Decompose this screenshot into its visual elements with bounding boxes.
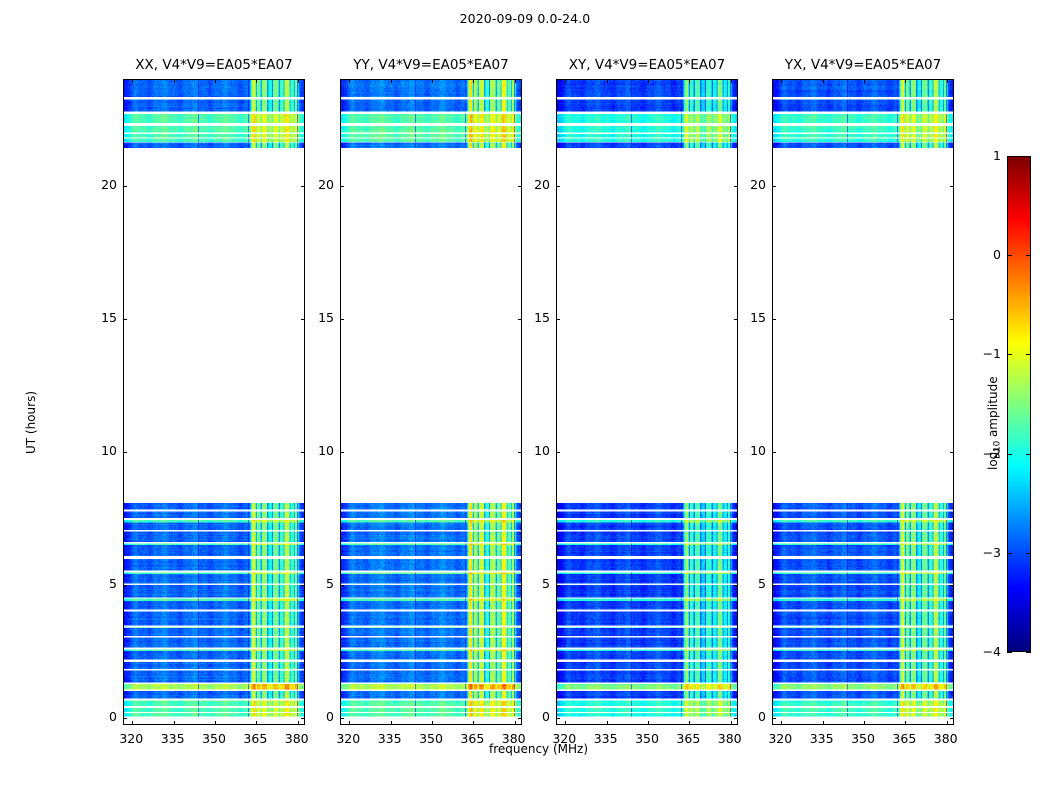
x-tick: [515, 79, 516, 83]
x-tick: [905, 79, 906, 83]
y-tick-label: 5: [83, 577, 117, 591]
y-tick-label: 10: [516, 444, 550, 458]
x-tick: [174, 79, 175, 83]
spectrogram-image-yx: [773, 80, 953, 724]
colorbar-tick: [1007, 255, 1012, 256]
colorbar-tick: [1026, 454, 1031, 455]
colorbar-tick: [1007, 156, 1012, 157]
x-tick: [174, 721, 175, 725]
y-tick-label: 5: [516, 577, 550, 591]
y-tick: [556, 452, 560, 453]
y-tick: [340, 718, 344, 719]
y-tick: [556, 585, 560, 586]
x-tick: [781, 79, 782, 83]
x-tick: [256, 79, 257, 83]
colorbar-tick-label: −4: [961, 645, 1001, 659]
y-tick-label: 0: [732, 710, 766, 724]
x-tick: [565, 721, 566, 725]
x-tick: [298, 79, 299, 83]
y-tick: [123, 718, 127, 719]
y-tick: [772, 585, 776, 586]
y-tick-label: 5: [732, 577, 766, 591]
x-tick: [215, 79, 216, 83]
x-tick: [349, 79, 350, 83]
x-tick: [391, 79, 392, 83]
x-tick: [905, 721, 906, 725]
y-tick: [123, 186, 127, 187]
x-tick: [864, 721, 865, 725]
colorbar-tick: [1026, 156, 1031, 157]
x-tick: [689, 79, 690, 83]
y-tick: [123, 319, 127, 320]
spectrogram-panel-xx[interactable]: [123, 79, 305, 725]
figure-suptitle: 2020-09-09 0.0-24.0: [0, 11, 1050, 26]
x-tick: [823, 79, 824, 83]
x-tick: [432, 721, 433, 725]
y-tick-label: 10: [732, 444, 766, 458]
x-tick: [432, 79, 433, 83]
colorbar-tick: [1026, 354, 1031, 355]
colorbar-tick: [1007, 652, 1012, 653]
x-tick: [823, 721, 824, 725]
y-tick-label: 15: [83, 311, 117, 325]
panel-title-yy: YY, V4*V9=EA05*EA07: [318, 57, 544, 75]
y-tick: [950, 319, 954, 320]
y-tick: [950, 718, 954, 719]
colorbar-label-suffix: amplitude: [986, 376, 1000, 440]
figure-canvas: 2020-09-09 0.0-24.0 XX, V4*V9=EA05*EA073…: [0, 0, 1050, 800]
y-tick-label: 0: [300, 710, 334, 724]
y-tick-label: 20: [516, 178, 550, 192]
x-tick: [473, 721, 474, 725]
y-tick-label: 0: [516, 710, 550, 724]
colorbar-tick-label: 0: [961, 248, 1001, 262]
panel-title-xy: XY, V4*V9=EA05*EA07: [534, 57, 760, 75]
colorbar-label: log10 amplitude: [986, 376, 1002, 470]
y-tick: [340, 452, 344, 453]
colorbar: [1007, 156, 1031, 652]
y-tick-label: 0: [83, 710, 117, 724]
x-tick: [864, 79, 865, 83]
x-tick: [689, 721, 690, 725]
x-tick: [607, 721, 608, 725]
x-tick: [947, 721, 948, 725]
colorbar-label-subscript: 10: [992, 441, 1002, 452]
colorbar-tick-label: −1: [961, 347, 1001, 361]
x-axis-label: frequency (MHz): [123, 742, 954, 756]
colorbar-tick: [1007, 454, 1012, 455]
y-tick-label: 15: [732, 311, 766, 325]
y-tick-label: 20: [83, 178, 117, 192]
panel-title-xx: XX, V4*V9=EA05*EA07: [101, 57, 327, 75]
panel-title-yx: YX, V4*V9=EA05*EA07: [750, 57, 976, 75]
x-tick: [298, 721, 299, 725]
x-tick: [781, 721, 782, 725]
x-tick: [215, 721, 216, 725]
x-tick: [648, 721, 649, 725]
colorbar-tick: [1026, 255, 1031, 256]
y-tick-label: 10: [83, 444, 117, 458]
y-tick: [950, 186, 954, 187]
y-tick: [556, 319, 560, 320]
x-tick: [731, 79, 732, 83]
spectrogram-image-xy: [557, 80, 737, 724]
colorbar-tick: [1026, 652, 1031, 653]
colorbar-tick: [1007, 553, 1012, 554]
spectrogram-panel-yy[interactable]: [340, 79, 522, 725]
spectrogram-panel-yx[interactable]: [772, 79, 954, 725]
x-tick: [391, 721, 392, 725]
y-tick-label: 15: [516, 311, 550, 325]
y-tick: [772, 186, 776, 187]
y-axis-label: UT (hours): [24, 391, 38, 454]
y-tick: [340, 186, 344, 187]
colorbar-tick: [1007, 354, 1012, 355]
y-tick: [556, 718, 560, 719]
colorbar-tick: [1026, 553, 1031, 554]
y-tick-label: 10: [300, 444, 334, 458]
y-tick-label: 20: [300, 178, 334, 192]
spectrogram-image-xx: [124, 80, 304, 724]
spectrogram-panel-xy[interactable]: [556, 79, 738, 725]
y-tick: [123, 585, 127, 586]
x-tick: [607, 79, 608, 83]
x-tick: [349, 721, 350, 725]
y-tick: [950, 585, 954, 586]
y-tick: [772, 718, 776, 719]
x-tick: [565, 79, 566, 83]
colorbar-label-prefix: log: [986, 452, 1000, 470]
x-tick: [648, 79, 649, 83]
y-tick: [123, 452, 127, 453]
y-tick: [556, 186, 560, 187]
y-tick-label: 5: [300, 577, 334, 591]
colorbar-tick-label: 1: [961, 149, 1001, 163]
y-tick: [340, 319, 344, 320]
y-tick: [772, 452, 776, 453]
x-tick: [947, 79, 948, 83]
x-tick: [132, 721, 133, 725]
x-tick: [256, 721, 257, 725]
y-tick-label: 20: [732, 178, 766, 192]
y-tick-label: 15: [300, 311, 334, 325]
y-tick: [950, 452, 954, 453]
x-tick: [132, 79, 133, 83]
colorbar-tick-label: −3: [961, 546, 1001, 560]
spectrogram-image-yy: [341, 80, 521, 724]
x-tick: [473, 79, 474, 83]
y-tick: [772, 319, 776, 320]
y-tick: [340, 585, 344, 586]
